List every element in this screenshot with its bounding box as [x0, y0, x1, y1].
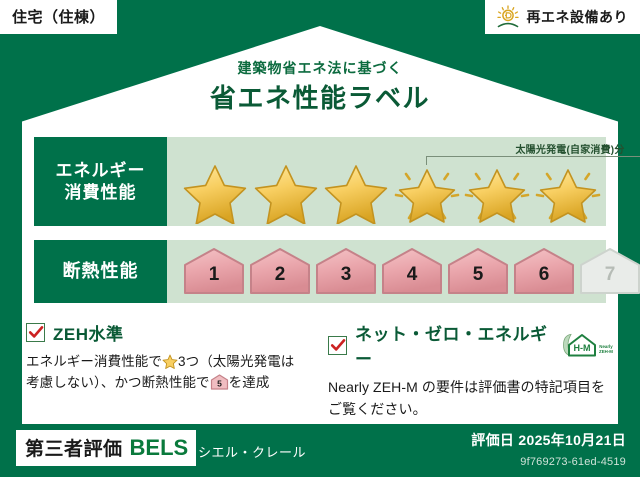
- insulation-badge-inactive: 7: [579, 247, 640, 295]
- criterion-nze-header: ネット・ゼロ・エネルギー H-M Nearly ZEH-M: [328, 320, 616, 370]
- evaluation-date-value: 2025年10月21日: [518, 432, 626, 448]
- insulation-badge: 2: [249, 247, 311, 295]
- insulation-badge: 4: [381, 247, 443, 295]
- energy-star-rating: [181, 162, 602, 224]
- house-type-tag: 住宅（住棟）: [0, 0, 117, 34]
- checkbox-checked-icon: [26, 323, 45, 342]
- insulation-badge: 3: [315, 247, 377, 295]
- star-icon-solar: [463, 162, 531, 224]
- star-icon-inline: [162, 354, 178, 369]
- insulation-badge: 6: [513, 247, 575, 295]
- insulation-badge-value: 4: [381, 264, 443, 286]
- star-icon: [252, 162, 320, 224]
- svg-text:5: 5: [217, 378, 222, 388]
- energy-row-title: エネルギー 消費性能: [34, 137, 167, 226]
- star-icon-solar: [393, 162, 461, 224]
- insulation-badge-inline: 5: [210, 374, 229, 390]
- label-title: 省エネ性能ラベル: [0, 78, 640, 115]
- insulation-badge-value: 5: [447, 264, 509, 286]
- insulation-performance-row: 断熱性能 1 2 3: [34, 240, 606, 303]
- renewable-tag-text: 再エネ設備あり: [527, 7, 629, 27]
- insulation-badge: 5: [447, 247, 509, 295]
- solar-bracket-label: 太陽光発電(自家消費)分: [420, 141, 640, 156]
- energy-row-body: 太陽光発電(自家消費)分: [167, 137, 606, 226]
- star-icon: [322, 162, 390, 224]
- evaluation-date-label: 評価日: [471, 432, 514, 448]
- insulation-badge-value: 7: [579, 264, 640, 286]
- criterion-zeh-title: ZEH水準: [53, 320, 124, 345]
- criterion-zeh: ZEH水準 エネルギー消費性能で3つ（太陽光発電は考慮しない）、かつ断熱性能で5…: [26, 320, 306, 394]
- svg-text:H-M: H-M: [574, 343, 591, 353]
- sun-icon: [495, 5, 521, 29]
- building-name: シエル・クレール: [198, 442, 306, 461]
- criterion-zeh-text-1: エネルギー消費性能で: [26, 354, 162, 369]
- energy-performance-label: 住宅（住棟） 再エネ設備あり 建築物省エネ法に基づく 省エネ性能: [0, 0, 640, 477]
- zeh-m-logo-icon: H-M Nearly ZEH-M: [558, 332, 616, 358]
- insulation-badge-value: 6: [513, 264, 575, 286]
- evaluation-date: 評価日 2025年10月21日: [471, 430, 626, 450]
- insulation-row-body: 1 2 3 4 5: [167, 240, 606, 303]
- label-subtitle: 建築物省エネ法に基づく: [0, 58, 640, 78]
- evaluation-id: 9f769273-61ed-4519: [520, 456, 626, 468]
- insulation-badge-value: 2: [249, 264, 311, 286]
- criterion-net-zero-energy: ネット・ゼロ・エネルギー H-M Nearly ZEH-M Nearly ZEH…: [328, 320, 616, 420]
- criterion-zeh-body: エネルギー消費性能で3つ（太陽光発電は考慮しない）、かつ断熱性能で5を達成: [26, 352, 306, 394]
- insulation-badge: 1: [183, 247, 245, 295]
- criterion-nze-title: ネット・ゼロ・エネルギー: [355, 320, 550, 370]
- insulation-badge-value: 1: [183, 264, 245, 286]
- insulation-row-title: 断熱性能: [34, 240, 167, 303]
- svg-text:ZEH-M: ZEH-M: [599, 349, 613, 354]
- insulation-badge-value: 3: [315, 264, 377, 286]
- house-type-text: 住宅（住棟）: [12, 9, 105, 26]
- bels-logo-text: BELS: [130, 435, 189, 461]
- criterion-nze-body: Nearly ZEH-M の要件は評価書の特記項目をご覧ください。: [328, 377, 616, 420]
- renewable-equipment-tag: 再エネ設備あり: [485, 0, 640, 34]
- third-party-evaluation-tag: 第三者評価 BELS: [16, 430, 196, 466]
- insulation-level-badges: 1 2 3 4 5: [183, 247, 640, 295]
- criterion-zeh-text-3: を達成: [229, 375, 270, 390]
- energy-row-title-line2: 消費性能: [65, 182, 137, 203]
- third-party-label: 第三者評価: [25, 434, 123, 461]
- energy-row-title-line1: エネルギー: [56, 160, 146, 181]
- checkbox-checked-icon: [328, 336, 347, 355]
- energy-performance-row: エネルギー 消費性能 太陽光発電(自家消費)分: [34, 137, 606, 226]
- star-icon-solar: [534, 162, 602, 224]
- star-icon: [181, 162, 249, 224]
- criterion-zeh-header: ZEH水準: [26, 320, 306, 345]
